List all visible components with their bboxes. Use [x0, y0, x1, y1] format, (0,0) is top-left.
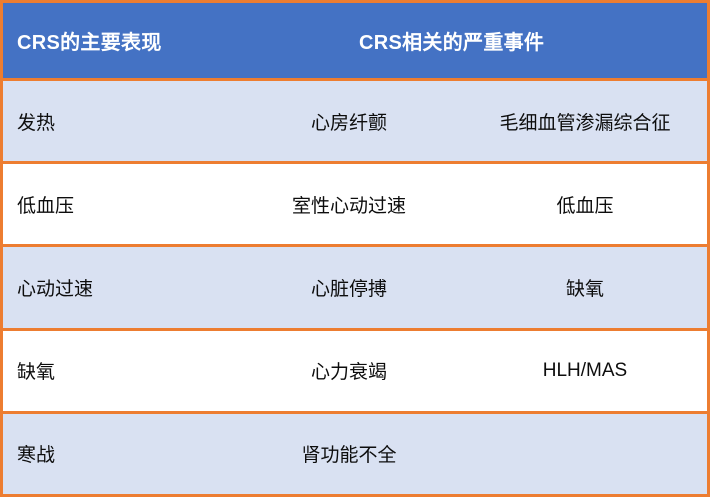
table-header-serious-events-label: CRS相关的严重事件 [359, 26, 544, 55]
crs-table: CRS的主要表现 CRS相关的严重事件 发热 心房纤颤 毛细血管渗漏综合征 低血… [0, 0, 710, 497]
cell-manifestation-text: 心动过速 [17, 274, 93, 301]
cell-event-a-text: 心房纤颤 [311, 108, 387, 135]
cell-manifestation-text: 寒战 [17, 440, 55, 467]
cell-manifestation-text: 低血压 [17, 191, 74, 218]
cell-event-b-text: 缺氧 [566, 274, 604, 301]
table-header-row: CRS的主要表现 CRS相关的严重事件 [3, 3, 707, 81]
cell-event-b: HLH/MAS [463, 331, 707, 411]
table-row: 发热 心房纤颤 毛细血管渗漏综合征 [3, 81, 707, 164]
cell-event-b-text: 低血压 [556, 191, 613, 218]
table-header-manifestations-label: CRS的主要表现 [17, 26, 162, 55]
cell-event-b: 毛细血管渗漏综合征 [463, 81, 707, 161]
table-header-serious-events: CRS相关的严重事件 [249, 26, 707, 55]
cell-event-a-text: 室性心动过速 [292, 191, 406, 218]
cell-event-a-text: 心脏停搏 [311, 274, 387, 301]
cell-event-a: 肾功能不全 [235, 414, 463, 494]
table-header-manifestations: CRS的主要表现 [3, 26, 249, 55]
table-row: 心动过速 心脏停搏 缺氧 [3, 247, 707, 330]
cell-manifestation-text: 发热 [17, 108, 55, 135]
cell-manifestation: 寒战 [3, 414, 235, 494]
table-row: 缺氧 心力衰竭 HLH/MAS [3, 331, 707, 414]
cell-event-a-text: 肾功能不全 [301, 440, 396, 467]
cell-event-b: 低血压 [463, 164, 707, 244]
cell-manifestation: 发热 [3, 81, 235, 161]
cell-event-b: 缺氧 [463, 247, 707, 327]
cell-event-a-text: 心力衰竭 [311, 357, 387, 384]
table-row: 寒战 肾功能不全 [3, 414, 707, 494]
cell-event-a: 室性心动过速 [235, 164, 463, 244]
cell-event-a: 心房纤颤 [235, 81, 463, 161]
cell-manifestation: 低血压 [3, 164, 235, 244]
cell-event-a: 心力衰竭 [235, 331, 463, 411]
cell-event-b-text: 毛细血管渗漏综合征 [499, 108, 670, 135]
cell-manifestation: 缺氧 [3, 331, 235, 411]
table-row: 低血压 室性心动过速 低血压 [3, 164, 707, 247]
cell-event-b-text: HLH/MAS [543, 360, 627, 382]
cell-manifestation: 心动过速 [3, 247, 235, 327]
cell-manifestation-text: 缺氧 [17, 357, 55, 384]
cell-event-b [463, 414, 707, 494]
cell-event-a: 心脏停搏 [235, 247, 463, 327]
